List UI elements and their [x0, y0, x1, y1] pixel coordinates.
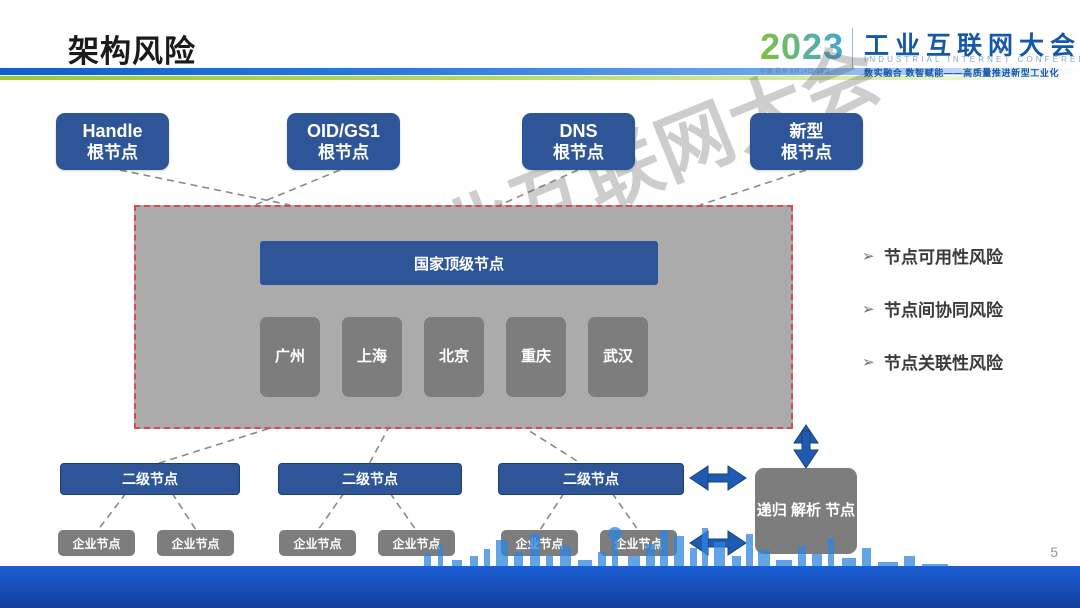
logo-year: 2023	[760, 26, 844, 68]
risk-item-3: ➢ 节点关联性风险	[862, 349, 1072, 374]
risk-item-1: ➢ 节点可用性风险	[862, 243, 1072, 268]
root-node-new-type[interactable]: 新型 根节点	[750, 113, 863, 170]
recursive-resolution-node[interactable]: 递归 解析 节点	[755, 468, 857, 554]
bullet-arrow-icon: ➢	[862, 353, 884, 371]
city-node-beijing[interactable]: 北京	[424, 317, 484, 397]
bullet-arrow-icon: ➢	[862, 247, 884, 265]
footer-band	[0, 566, 1080, 608]
enterprise-node-6[interactable]: 企业节点	[600, 530, 677, 556]
city-node-wuhan[interactable]: 武汉	[588, 317, 648, 397]
root-node-handle[interactable]: Handle 根节点	[56, 113, 169, 170]
arrow-horizontal-enterprise-recursive	[690, 531, 746, 555]
page-number: 5	[1050, 544, 1058, 560]
city-node-shanghai[interactable]: 上海	[342, 317, 402, 397]
risk-item-2-label: 节点间协同风险	[884, 296, 1003, 321]
logo-date: 中国·苏州 8月14日-16日	[760, 66, 830, 75]
root-node-dns-line2: 根节点	[553, 142, 604, 163]
recursive-node-line3: 节点	[825, 502, 855, 519]
arrow-vertical-panel-recursive	[794, 425, 818, 468]
root-node-oid-gs1-line1: OID/GS1	[307, 121, 380, 142]
bullet-arrow-icon: ➢	[862, 300, 884, 318]
recursive-node-line1: 递归	[757, 502, 787, 519]
page-title: 架构风险	[68, 26, 196, 71]
secondary-node-2[interactable]: 二级节点	[278, 463, 462, 495]
risk-item-3-label: 节点关联性风险	[884, 349, 1003, 374]
national-node-panel: 国家顶级节点 广州 上海 北京 重庆 武汉	[134, 205, 793, 429]
enterprise-node-4[interactable]: 企业节点	[378, 530, 455, 556]
logo-name-en: INDUSTRIAL INTERNET CONFERENCE	[864, 55, 1080, 64]
root-node-new-type-line2: 根节点	[781, 142, 832, 163]
city-node-guangzhou[interactable]: 广州	[260, 317, 320, 397]
root-node-new-type-line1: 新型	[781, 121, 832, 142]
city-node-chongqing[interactable]: 重庆	[506, 317, 566, 397]
secondary-node-3[interactable]: 二级节点	[498, 463, 684, 495]
enterprise-node-1[interactable]: 企业节点	[58, 530, 135, 556]
conference-logo: 2023 中国·苏州 8月14日-16日 工业互联网大会 INDUSTRIAL …	[742, 24, 1072, 84]
root-node-oid-gs1-line2: 根节点	[307, 142, 380, 163]
root-node-dns-line1: DNS	[553, 121, 604, 142]
recursive-node-line2: 解析	[791, 502, 821, 519]
enterprise-node-5[interactable]: 企业节点	[501, 530, 578, 556]
risk-list: ➢ 节点可用性风险 ➢ 节点间协同风险 ➢ 节点关联性风险	[862, 243, 1072, 402]
root-node-handle-line2: 根节点	[82, 142, 142, 163]
logo-divider	[852, 28, 853, 72]
root-node-oid-gs1[interactable]: OID/GS1 根节点	[287, 113, 400, 170]
enterprise-node-2[interactable]: 企业节点	[157, 530, 234, 556]
root-node-dns[interactable]: DNS 根节点	[522, 113, 635, 170]
logo-slogan: 数实融合 数智赋能——高质量推进新型工业化	[864, 66, 1059, 79]
arrow-horizontal-secondary-recursive	[690, 466, 746, 490]
root-node-handle-line1: Handle	[82, 121, 142, 142]
secondary-node-1[interactable]: 二级节点	[60, 463, 240, 495]
risk-item-2: ➢ 节点间协同风险	[862, 296, 1072, 321]
national-top-level-node[interactable]: 国家顶级节点	[260, 241, 658, 285]
enterprise-node-3[interactable]: 企业节点	[279, 530, 356, 556]
risk-item-1-label: 节点可用性风险	[884, 243, 1003, 268]
